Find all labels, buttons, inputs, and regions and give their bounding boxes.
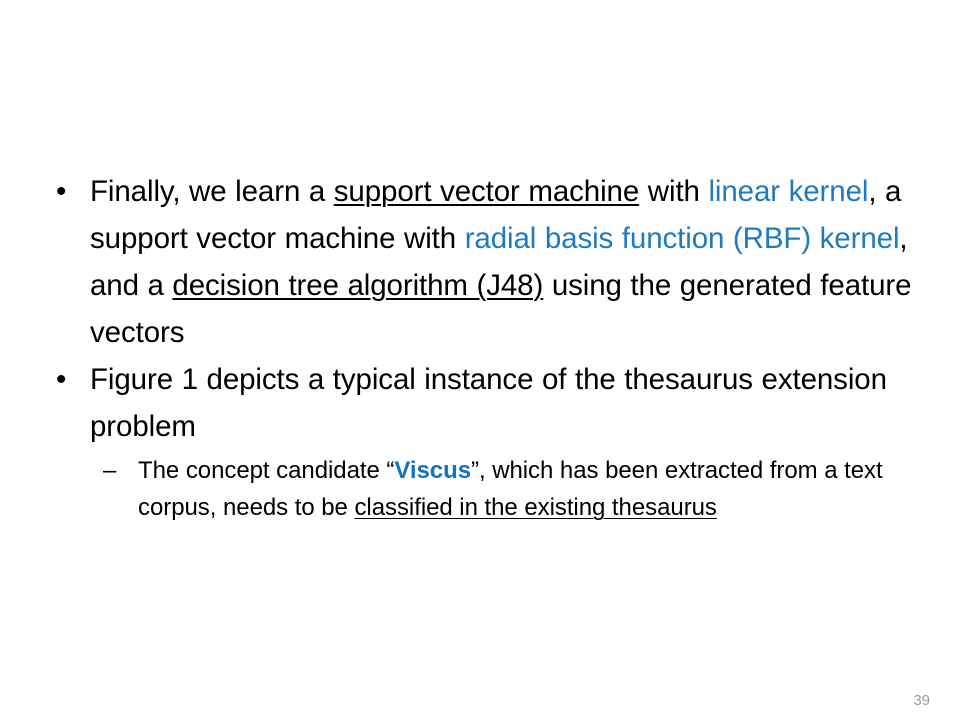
bullet-level1-item: • Finally, we learn a support vector mac… [52, 168, 912, 356]
bullet-level1-item: • Figure 1 depicts a typical instance of… [52, 356, 912, 450]
slide-page-number: 39 [913, 692, 930, 709]
text-run: Finally, we learn a [90, 175, 334, 208]
bullet-text: Figure 1 depicts a typical instance of t… [90, 363, 887, 443]
bullet-marker-dot: • [56, 356, 66, 403]
bullet-marker-dot: • [56, 168, 66, 215]
bullet-marker-dash: – [103, 452, 116, 489]
bullet-text: The concept candidate “Viscus”, which ha… [138, 457, 883, 521]
presentation-slide: • Finally, we learn a support vector mac… [0, 0, 960, 720]
text-run: The concept candidate “ [138, 457, 394, 484]
slide-body-text-placeholder[interactable]: • Finally, we learn a support vector mac… [52, 168, 912, 526]
text-run-underlined: classified in the existing thesaurus [354, 494, 716, 521]
text-run: with [639, 175, 708, 208]
text-run-accent: linear kernel [708, 175, 868, 208]
bullet-level2-item: – The concept candidate “Viscus”, which … [100, 452, 912, 526]
text-run-underlined: support vector machine [334, 175, 639, 208]
text-run-underlined: decision tree algorithm (J48) [172, 269, 543, 302]
text-run-accent-bold: Viscus [394, 457, 471, 484]
text-run-accent: radial basis function (RBF) kernel [465, 222, 900, 255]
bullet-text: Finally, we learn a support vector machi… [90, 175, 911, 349]
